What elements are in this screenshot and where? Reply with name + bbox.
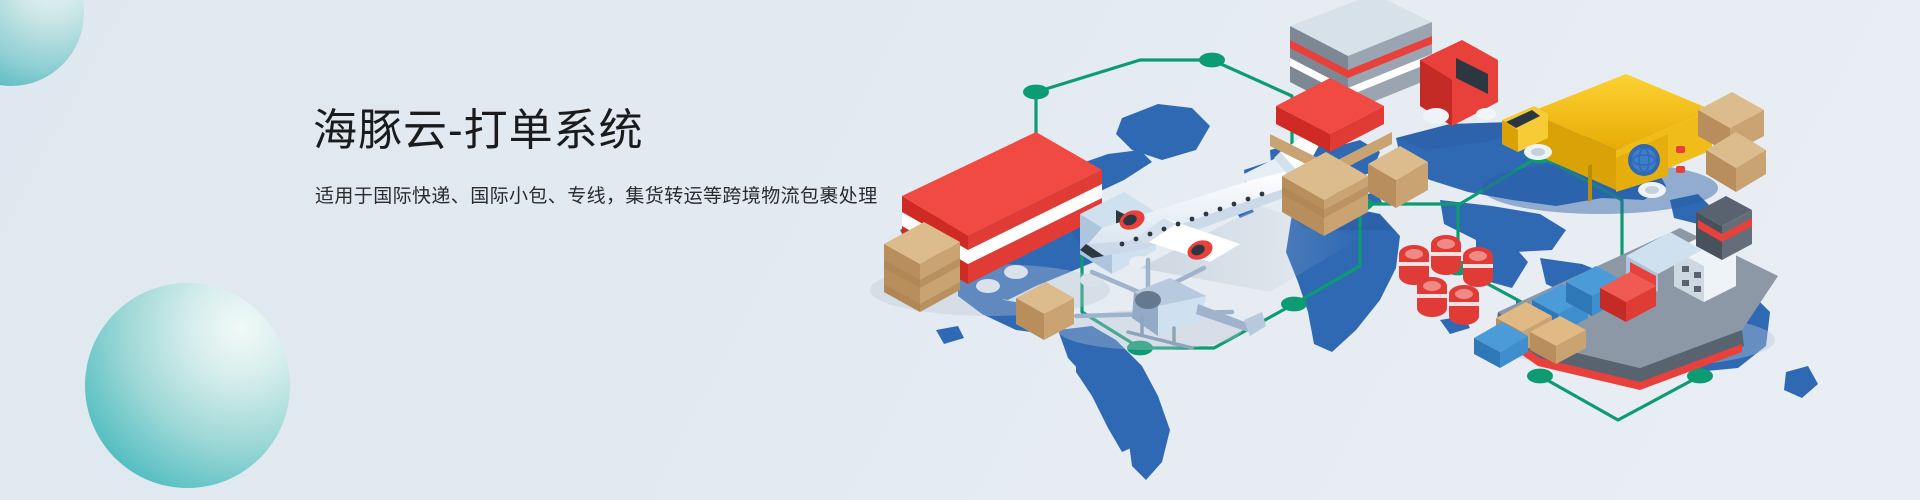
- yellow-delivery-van: [1482, 74, 1766, 214]
- hero-banner: 海豚云-打单系统 适用于国际快递、国际小包、专线，集货转运等跨境物流包裹处理: [0, 0, 1920, 500]
- red-oil-barrels: [1399, 235, 1493, 325]
- isometric-world-logistics-illustration: [840, 0, 1920, 500]
- teal-bokeh-circle-bottom-left: [85, 283, 290, 488]
- teal-bokeh-circle-top-left: [0, 0, 84, 86]
